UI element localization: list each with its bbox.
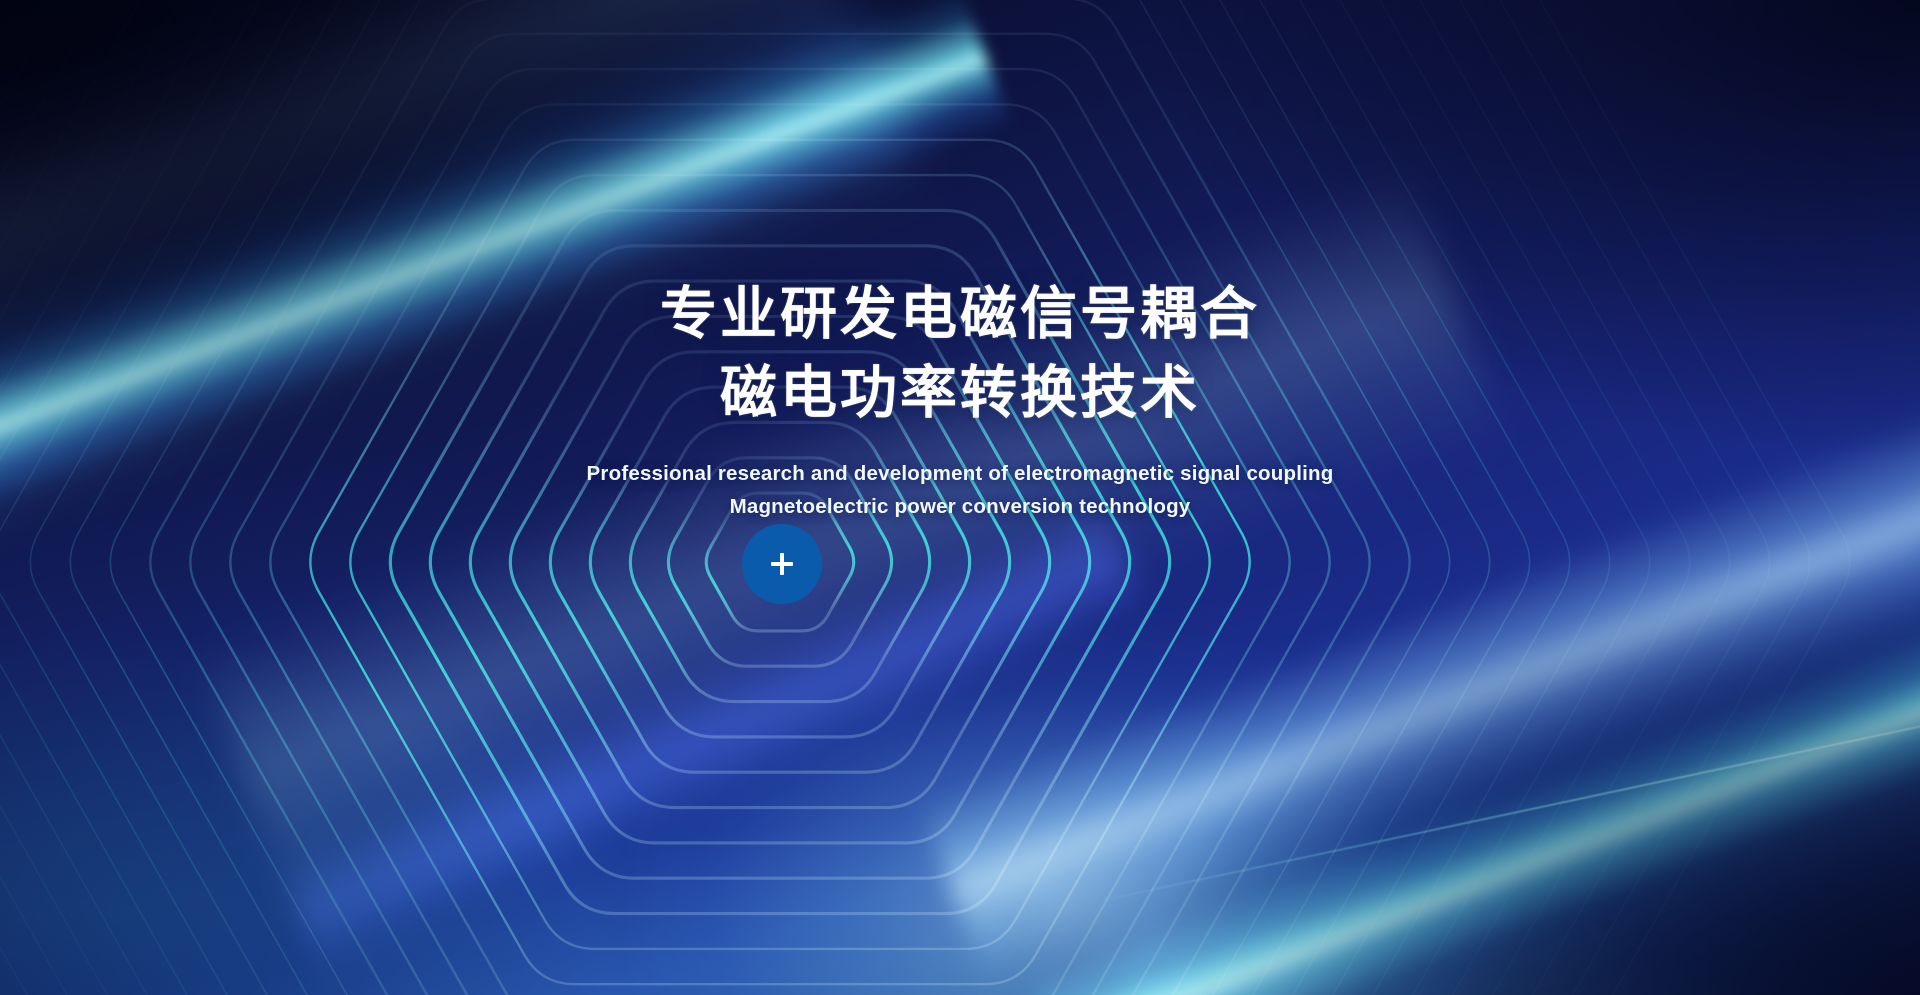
hero-content: 专业研发电磁信号耦合 磁电功率转换技术 Professional researc…: [0, 0, 1920, 995]
page-subtitle: Professional research and development of…: [587, 458, 1334, 523]
title-line-2: 磁电功率转换技术: [660, 354, 1260, 433]
title-line-1: 专业研发电磁信号耦合: [660, 275, 1260, 354]
hero-banner: 专业研发电磁信号耦合 磁电功率转换技术 Professional researc…: [0, 0, 1920, 995]
subtitle-line-2: Magnetoelectric power conversion technol…: [587, 491, 1334, 523]
subtitle-line-1: Professional research and development of…: [587, 458, 1334, 490]
plus-icon-vertical: [780, 553, 784, 575]
page-title: 专业研发电磁信号耦合 磁电功率转换技术: [660, 275, 1260, 432]
expand-plus-button[interactable]: [742, 524, 822, 604]
